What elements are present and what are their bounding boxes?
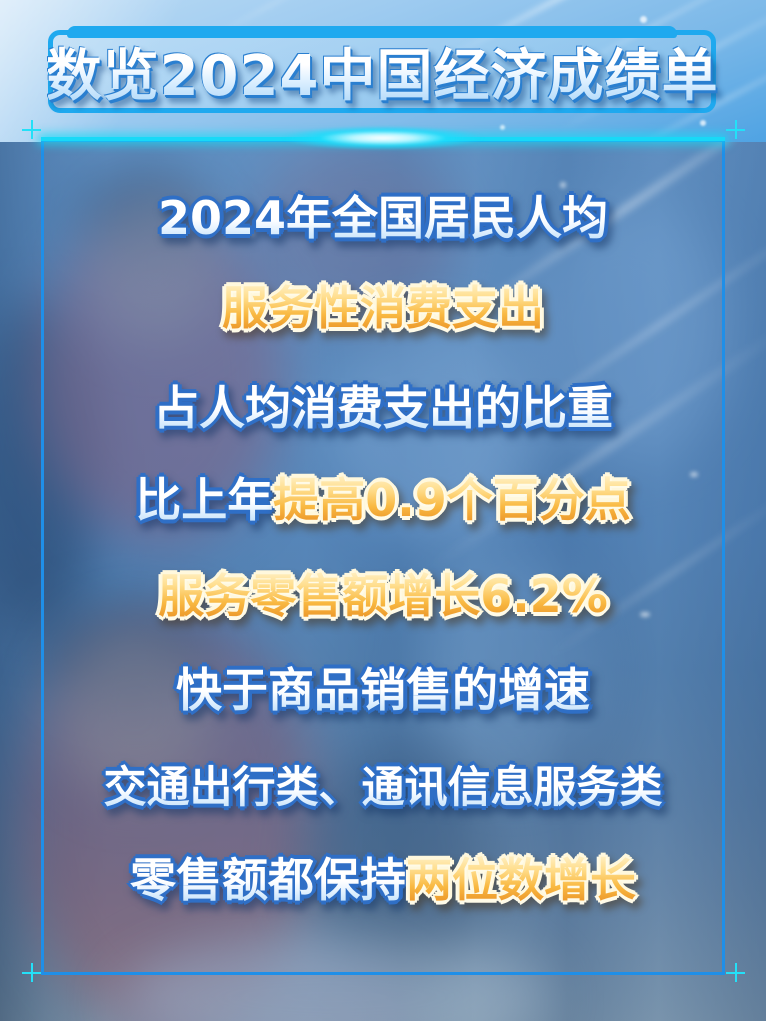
stat-segment-highlight: 提高0.9个百分点 xyxy=(273,473,631,527)
stat-segment: 交通出行类、通讯信息服务类 xyxy=(104,763,663,813)
stat-segment: 快于商品销售的增速 xyxy=(176,663,590,717)
header-sparkle xyxy=(700,120,706,126)
stat-segment: 2024年全国居民人均 xyxy=(158,191,608,245)
stat-segment: 比上年 xyxy=(135,473,273,527)
stat-line-2: 服务性消费支出 xyxy=(41,282,725,334)
stat-line-8: 零售额都保持两位数增长 xyxy=(41,854,725,906)
stat-line-6: 快于商品销售的增速 xyxy=(41,664,725,716)
header-sparkle xyxy=(500,125,505,130)
statistics-text-block: 2024年全国居民人均 服务性消费支出 占人均消费支出的比重 比上年提高0.9个… xyxy=(41,142,725,975)
header-sparkle xyxy=(640,16,647,23)
stat-line-5: 服务零售额增长6.2% xyxy=(41,570,725,622)
stat-segment: 零售额都保持 xyxy=(130,853,406,907)
page-title: 数览2024中国经济成绩单 xyxy=(48,30,716,113)
stat-line-7: 交通出行类、通讯信息服务类 xyxy=(41,762,725,814)
infographic-poster: 数览2024中国经济成绩单 xyxy=(0,0,766,1021)
stat-segment-highlight: 两位数增长 xyxy=(406,853,636,907)
stat-line-4: 比上年提高0.9个百分点 xyxy=(41,474,725,526)
stat-segment-highlight: 服务零售额增长6.2% xyxy=(158,569,608,623)
stat-segment: 占人均消费支出的比重 xyxy=(153,381,613,435)
stat-segment-highlight: 服务性消费支出 xyxy=(222,281,544,335)
stat-line-3: 占人均消费支出的比重 xyxy=(41,382,725,434)
stat-line-1: 2024年全国居民人均 xyxy=(41,192,725,244)
